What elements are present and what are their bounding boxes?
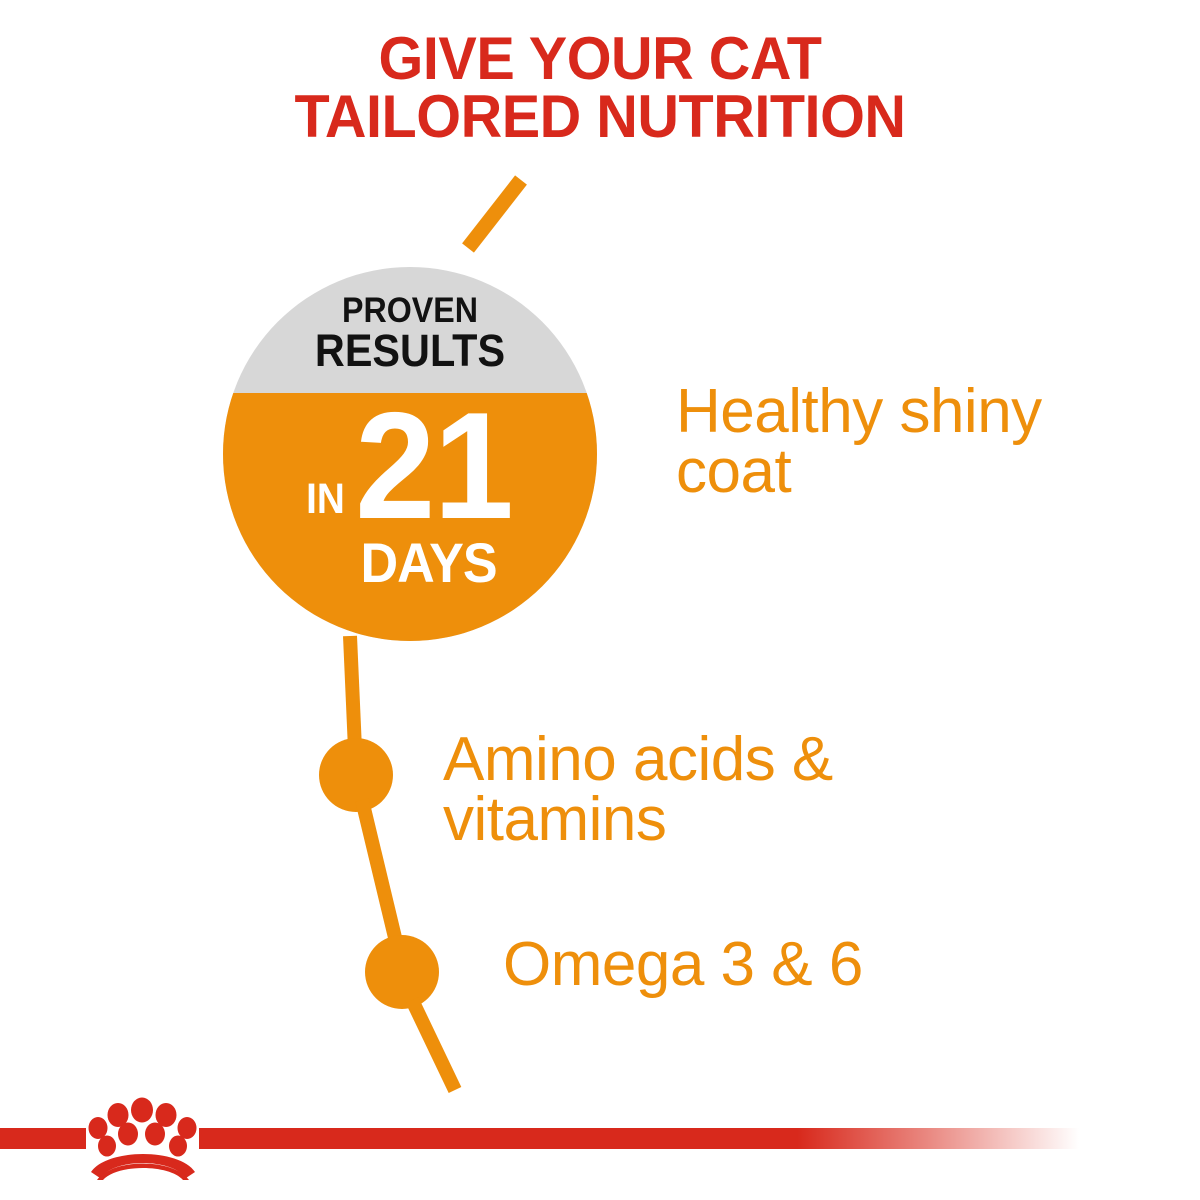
benefit-line-1: Omega 3 & 6 — [503, 935, 1023, 995]
connector-node-2 — [365, 935, 439, 1009]
badge-number: 21 — [355, 397, 512, 535]
headline-line-1: GIVE YOUR CAT — [24, 30, 1176, 88]
badge-in-label: IN — [306, 478, 345, 521]
benefit-healthy-shiny-coat: Healthy shiny coat — [676, 382, 1176, 502]
poster-canvas: GIVE YOUR CAT TAILORED NUTRITION PROVEN … — [0, 0, 1200, 1200]
badge-proven-label: PROVEN — [238, 293, 582, 329]
connector-path — [0, 0, 1200, 1200]
badge-results-label: RESULTS — [238, 327, 582, 375]
connector-segment-1 — [350, 636, 356, 772]
connector-segment-2 — [362, 800, 398, 950]
benefit-line-2: coat — [676, 442, 1176, 502]
page-title: GIVE YOUR CAT TAILORED NUTRITION — [24, 30, 1176, 146]
benefit-amino-acids-vitamins: Amino acids & vitamins — [443, 730, 963, 850]
connector-dash-segment — [468, 180, 521, 248]
connector-node-1 — [319, 738, 393, 812]
benefit-line-2: vitamins — [443, 790, 963, 850]
benefit-line-1: Healthy shiny — [676, 382, 1176, 442]
connector-segment-3 — [412, 1000, 455, 1090]
royal-canin-crown-icon — [83, 1096, 203, 1180]
headline-line-2: TAILORED NUTRITION — [24, 88, 1176, 146]
badge-days-label: DAYS — [236, 535, 584, 591]
badge-duration-row: IN21 — [223, 397, 597, 535]
badge-content: PROVEN RESULTS IN21 DAYS — [223, 267, 597, 641]
brand-bar-left — [0, 1128, 86, 1149]
benefit-line-1: Amino acids & — [443, 730, 963, 790]
brand-bar-right — [199, 1128, 1079, 1149]
benefit-omega-3-and-6: Omega 3 & 6 — [503, 935, 1023, 995]
proven-results-badge: PROVEN RESULTS IN21 DAYS — [223, 267, 597, 641]
